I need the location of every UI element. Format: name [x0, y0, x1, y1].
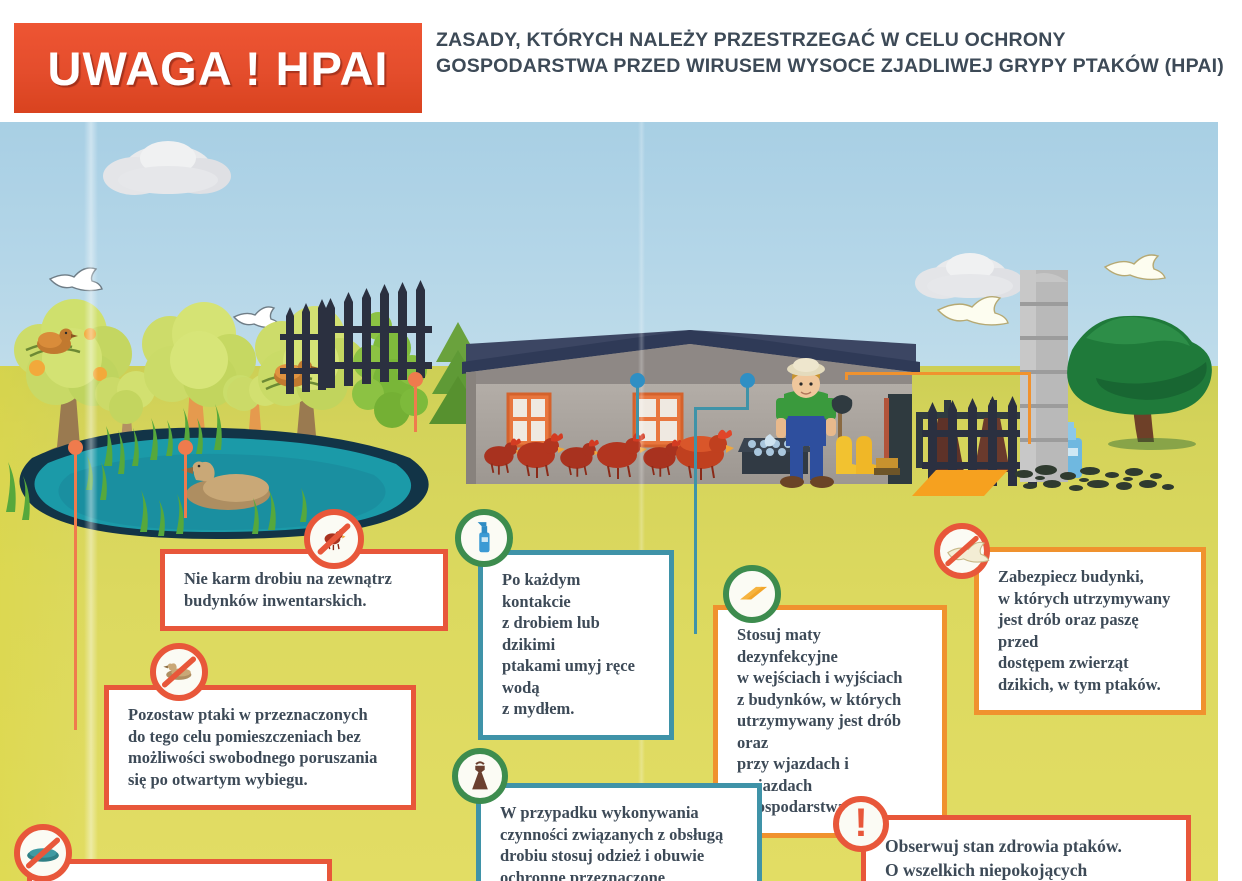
- apron-icon: [452, 748, 508, 804]
- title-badge: UWAGA ! HPAI: [14, 23, 422, 113]
- no-chicken-icon: [304, 509, 364, 569]
- disinfection-mat: [912, 470, 1008, 496]
- connector-dot: [408, 372, 423, 387]
- connector-line: [694, 407, 749, 410]
- callout-text: Zabezpiecz budynki, w których utrzymywan…: [984, 557, 1196, 705]
- soap-bottle-icon: [455, 509, 513, 567]
- connector-dot: [68, 440, 83, 455]
- connector-line: [414, 380, 417, 432]
- connector-line: [184, 448, 187, 518]
- callout-text: Nie karm drobiu na zewnątrz budynków inw…: [170, 559, 438, 621]
- connector-dot: [178, 440, 193, 455]
- callout-observe-health: Obserwuj stan zdrowia ptaków. O wszelkic…: [861, 815, 1191, 881]
- callout-protective-clothing: W przypadku wykonywania czynności związa…: [476, 783, 762, 881]
- callout-keep-birds-indoors: Pozostaw ptaki w przeznaczonych do tego …: [104, 685, 416, 810]
- page-margin: [1218, 122, 1242, 881]
- connector-line: [1028, 372, 1031, 444]
- poster-header: UWAGA ! HPAI ZASADY, KTÓRYCH NALEŻY PRZE…: [0, 0, 1242, 122]
- connector-line: [74, 468, 77, 730]
- callout-wash-hands: Po każdym kontakcie z drobiem lub dzikim…: [478, 550, 674, 740]
- farm-scene: ! Nie karm drobiu na zewnątrz budynków i…: [0, 122, 1242, 881]
- callout-secure-buildings-feed: Zabezpiecz budynki, w których utrzymywan…: [974, 547, 1206, 715]
- flying-bird-icon: [1105, 255, 1165, 279]
- callout-text: Pozostaw ptaki w przeznaczonych do tego …: [114, 695, 406, 800]
- connector-line: [636, 381, 639, 439]
- connector-dot: [740, 373, 755, 388]
- cloud-icon: [103, 141, 231, 195]
- page-title: ZASADY, KTÓRYCH NALEŻY PRZESTRZEGAĆ W CE…: [436, 27, 1226, 79]
- title-badge-label: UWAGA ! HPAI: [48, 41, 389, 96]
- barn-window: [508, 394, 550, 446]
- deciduous-tree: [1067, 316, 1212, 450]
- callout-text: Nie wykorzystuj do pojenia drobiu wody z…: [37, 869, 322, 881]
- connector-dot: [630, 373, 645, 388]
- flying-bird-icon: [50, 268, 102, 291]
- disinfection-mat-icon: [723, 565, 781, 623]
- callout-text: Po każdym kontakcie z drobiem lub dzikim…: [488, 560, 664, 730]
- gravel-path: [1015, 465, 1174, 491]
- callout-text: W przypadku wykonywania czynności związa…: [486, 793, 752, 881]
- exclamation-icon: !: [833, 796, 889, 852]
- exclamation-glyph: !: [854, 803, 867, 843]
- connector-line: [845, 372, 1031, 375]
- callout-no-outdoor-feeding: Nie karm drobiu na zewnątrz budynków inw…: [160, 549, 448, 631]
- no-duck-icon: [150, 643, 208, 701]
- cloud-icon: [915, 253, 1024, 299]
- flying-bird-icon: [938, 297, 1008, 325]
- poster-root: UWAGA ! HPAI ZASADY, KTÓRYCH NALEŻY PRZE…: [0, 0, 1242, 881]
- callout-text: Obserwuj stan zdrowia ptaków. O wszelkic…: [871, 825, 1181, 881]
- callout-no-surface-water: Nie wykorzystuj do pojenia drobiu wody z…: [27, 859, 332, 881]
- connector-line: [845, 372, 848, 380]
- connector-line: [694, 552, 697, 634]
- no-pond-water-icon: [14, 824, 72, 881]
- no-wild-bird-icon: [934, 523, 990, 579]
